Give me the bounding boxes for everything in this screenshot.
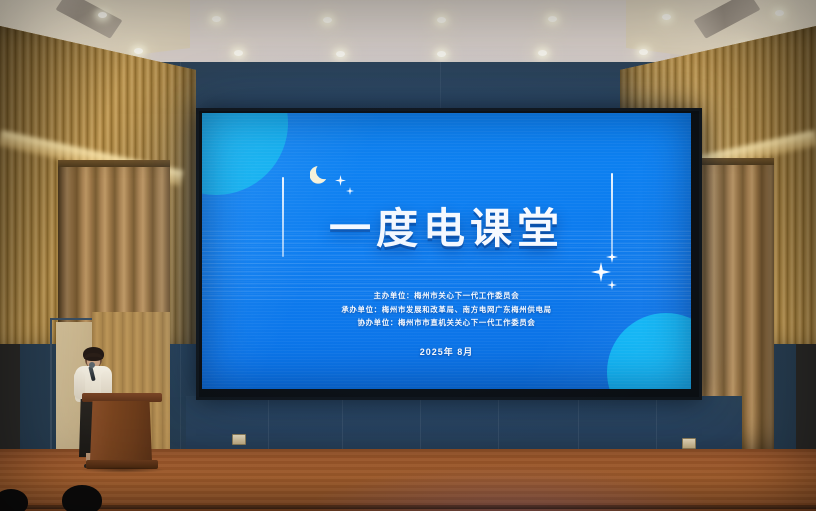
sparkle-icon <box>346 187 354 195</box>
wall-outlet-plate[interactable] <box>232 434 246 445</box>
organizer-line: 协办单位：梅州市市直机关关心下一代工作委员会 <box>202 316 691 330</box>
ceiling-downlight <box>538 50 547 56</box>
ceiling-downlight <box>437 51 446 57</box>
slide-organizers: 主办单位：梅州市关心下一代工作委员会 承办单位：梅州市发展和改革局、南方电网广东… <box>202 289 691 330</box>
podium-top <box>82 393 162 402</box>
podium-body <box>90 401 152 461</box>
photo-scene: 一度电课堂 主办单位：梅州市关心下一代工作委员会 承办单位：梅州市发展和改革局、… <box>0 0 816 511</box>
ceiling-downlight <box>548 16 557 22</box>
organizer-line: 主办单位：梅州市关心下一代工作委员会 <box>202 289 691 303</box>
ceiling-downlight <box>639 49 648 55</box>
ceiling-downlight <box>437 17 446 23</box>
ceiling-downlight <box>234 50 243 56</box>
curtain-valance <box>58 160 170 167</box>
ceiling-downlight <box>98 12 107 18</box>
sparkle-icon <box>335 175 346 186</box>
ceiling-downlight <box>775 10 784 16</box>
podium-shadow <box>80 467 166 473</box>
ceiling-downlight <box>662 14 671 20</box>
sparkle-icon <box>591 262 611 282</box>
ceiling-downlight <box>212 16 221 22</box>
ceiling-downlight <box>323 17 332 23</box>
led-screen-display[interactable]: 一度电课堂 主办单位：梅州市关心下一代工作委员会 承办单位：梅州市发展和改革局、… <box>202 113 691 389</box>
organizer-line: 承办单位：梅州市发展和改革局、南方电网广东梅州供电局 <box>202 303 691 317</box>
ceiling-downlight <box>336 51 345 57</box>
ceiling-downlight <box>134 48 143 54</box>
audience-head <box>62 485 102 511</box>
wall-outlet-plate[interactable] <box>682 438 696 449</box>
microphone-head-icon <box>89 362 95 368</box>
slide-title: 一度电课堂 <box>202 195 691 256</box>
crescent-moon-icon <box>310 163 332 185</box>
podium <box>88 393 156 471</box>
slide-date: 2025年 8月 <box>202 345 691 358</box>
stage-edge <box>0 505 816 509</box>
